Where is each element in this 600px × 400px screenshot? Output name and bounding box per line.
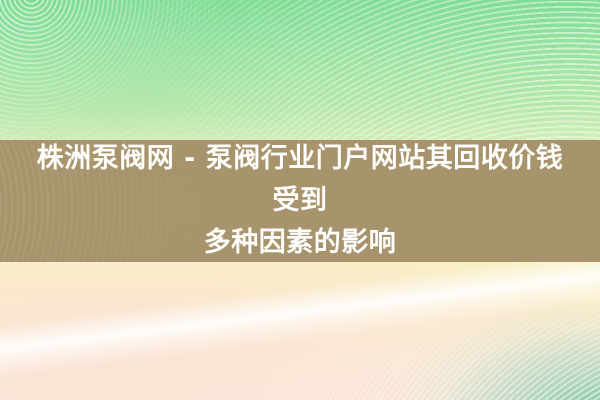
- banner-title: 株洲泵阀网 - 泵阀行业门户网站其回收价钱受到 多种因素的影响: [30, 140, 570, 262]
- banner: 株洲泵阀网 - 泵阀行业门户网站其回收价钱受到 多种因素的影响: [0, 0, 600, 400]
- title-band: 株洲泵阀网 - 泵阀行业门户网站其回收价钱受到 多种因素的影响: [0, 140, 600, 262]
